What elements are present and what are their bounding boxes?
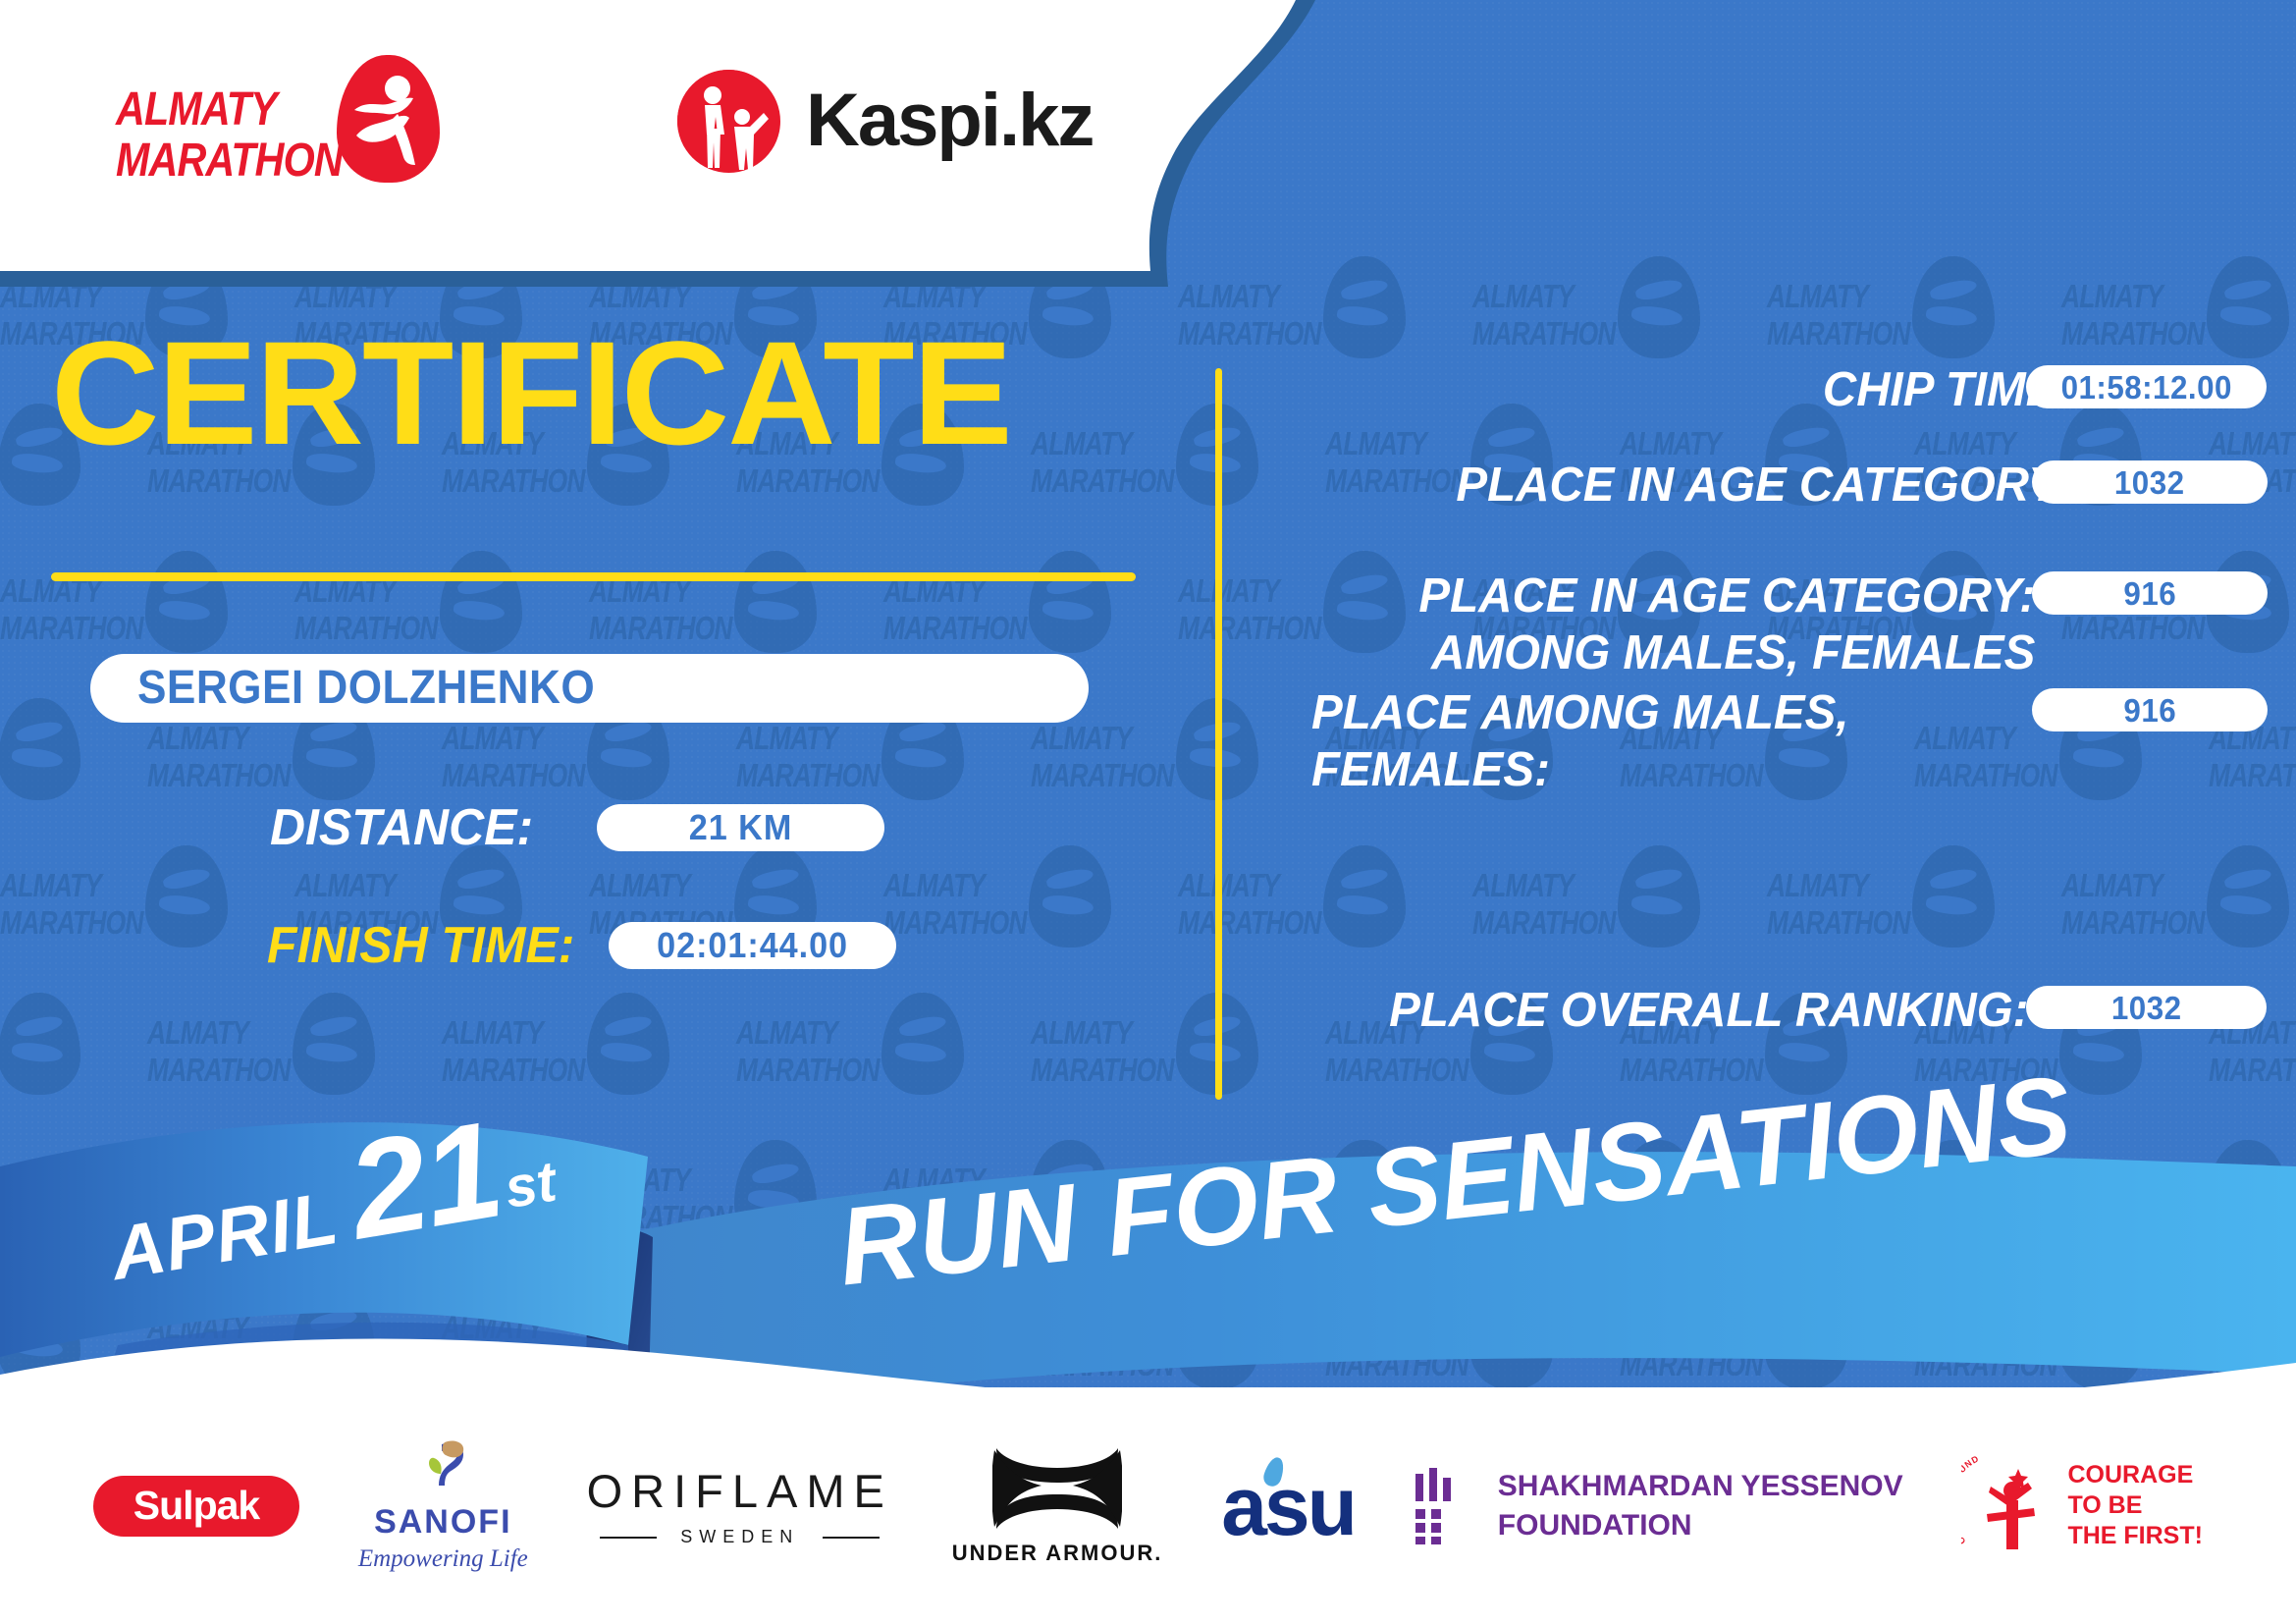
- overall-rank-value: 1032: [2111, 992, 2182, 1024]
- courage-label-line3: THE FIRST!: [2067, 1521, 2203, 1551]
- event-date-day: 21: [339, 1092, 511, 1269]
- finish-time-label: FINISH TIME:: [267, 918, 574, 973]
- overall-rank-value-pill: 1032: [2026, 986, 2267, 1029]
- courage-label-line2: TO BE: [2067, 1490, 2203, 1521]
- oriflame-sub: SWEDEN: [680, 1527, 799, 1547]
- place-among-value: 916: [2123, 694, 2176, 727]
- finish-time-value-pill: 02:01:44.00: [609, 922, 896, 969]
- event-date-month: APRIL: [105, 1176, 345, 1296]
- yessenov-label-line1: SHAKHMARDAN YESSENOV: [1498, 1467, 1903, 1506]
- column-divider: [1215, 368, 1222, 1100]
- distance-row: DISTANCE: 21 KM: [270, 800, 884, 855]
- stats-column: CHIP TIME: 01:58:12.00 PLACE IN AGE CATE…: [1266, 0, 2296, 1139]
- almaty-logo-line2: MARATHON: [116, 135, 343, 187]
- place-age-value: 1032: [2114, 466, 2185, 499]
- finish-time-value: 02:01:44.00: [657, 928, 848, 963]
- under-armour-icon: [992, 1446, 1122, 1531]
- svg-text:CORPORATE FUND: CORPORATE FUND: [1961, 1453, 1981, 1546]
- asu-label-wrap: asu: [1221, 1465, 1355, 1547]
- place-age-among-label-line2: AMONG MALES, FEMALES: [1431, 624, 2035, 681]
- overall-rank-label: PLACE OVERALL RANKING:: [1390, 982, 2029, 1039]
- chip-time-value: 01:58:12.00: [2060, 371, 2231, 404]
- sanofi-tagline: Empowering Life: [358, 1545, 528, 1573]
- asu-label: asu: [1221, 1460, 1355, 1552]
- sanofi-label: SANOFI: [374, 1503, 511, 1542]
- place-age-among-label-line1: PLACE IN AGE CATEGORY:: [1418, 568, 2035, 624]
- oriflame-rule-left: [600, 1537, 657, 1539]
- place-among-label-line1: PLACE AMONG MALES,: [1311, 684, 1848, 741]
- participant-name: SERGEI DOLZHENKO: [137, 665, 595, 712]
- kaspi-people-icon: [677, 70, 780, 173]
- finish-time-row: FINISH TIME: 02:01:44.00: [267, 918, 896, 973]
- sponsor-under-armour: UNDER ARMOUR.: [952, 1446, 1163, 1566]
- sponsor-sanofi: SANOFI Empowering Life: [358, 1438, 528, 1573]
- almaty-logo-line1: ALMATY: [116, 84, 343, 135]
- oriflame-label: ORIFLAME: [587, 1464, 893, 1518]
- place-among-label-line2: FEMALES:: [1311, 741, 1550, 798]
- distance-value: 21 KM: [689, 810, 792, 845]
- distance-label: DISTANCE:: [270, 800, 533, 855]
- sponsor-oriflame: ORIFLAME SWEDEN: [587, 1464, 893, 1547]
- sponsor-asu: asu: [1221, 1465, 1355, 1547]
- place-age-label: PLACE IN AGE CATEGORY:: [1456, 457, 2072, 514]
- sponsor-strip: Sulpak SANOFI Empowering Life ORIFLAME S…: [0, 1387, 2296, 1624]
- courage-label-line1: COURAGE: [2067, 1460, 2203, 1490]
- almaty-marathon-logo: ALMATY MARATHON: [116, 57, 430, 194]
- oriflame-sub-wrap: SWEDEN: [588, 1527, 891, 1547]
- kaspi-label: Kaspi.kz: [806, 83, 1093, 158]
- certificate-canvas: ALMATYMARATHONALMATYMARATHONALMATYMARATH…: [0, 0, 2296, 1624]
- event-date-suffix: st: [500, 1149, 561, 1220]
- place-age-among-value-pill: 916: [2032, 571, 2268, 615]
- under-armour-label: UNDER ARMOUR.: [952, 1541, 1163, 1566]
- place-age-among-value: 916: [2123, 577, 2176, 610]
- chip-time-value-pill: 01:58:12.00: [2026, 365, 2267, 408]
- sponsor-courage-fund: CORPORATE FUND COURAGE TO BE THE FIRST!: [1961, 1453, 2203, 1559]
- participant-name-field: SERGEI DOLZHENKO: [90, 654, 1089, 723]
- page-title: CERTIFICATE: [51, 319, 1011, 466]
- title-underline: [51, 572, 1136, 581]
- distance-value-pill: 21 KM: [597, 804, 884, 851]
- sulpak-label: Sulpak: [93, 1476, 299, 1537]
- courage-fund-icon: CORPORATE FUND: [1961, 1453, 2056, 1559]
- place-age-value-pill: 1032: [2032, 460, 2268, 504]
- kaspi-logo: Kaspi.kz: [677, 67, 1093, 175]
- courage-fund-label-wrap: COURAGE TO BE THE FIRST!: [2067, 1460, 2203, 1551]
- runner-drop-icon: [337, 55, 440, 183]
- yessenov-icon: [1414, 1468, 1476, 1544]
- oriflame-rule-right: [823, 1537, 880, 1539]
- yessenov-label-wrap: SHAKHMARDAN YESSENOV FOUNDATION: [1498, 1467, 1903, 1545]
- place-among-value-pill: 916: [2032, 688, 2268, 731]
- yessenov-label-line2: FOUNDATION: [1498, 1506, 1903, 1545]
- sponsor-sulpak: Sulpak: [93, 1476, 299, 1537]
- sponsor-yessenov: SHAKHMARDAN YESSENOV FOUNDATION: [1414, 1467, 1903, 1545]
- sanofi-icon: [412, 1438, 473, 1499]
